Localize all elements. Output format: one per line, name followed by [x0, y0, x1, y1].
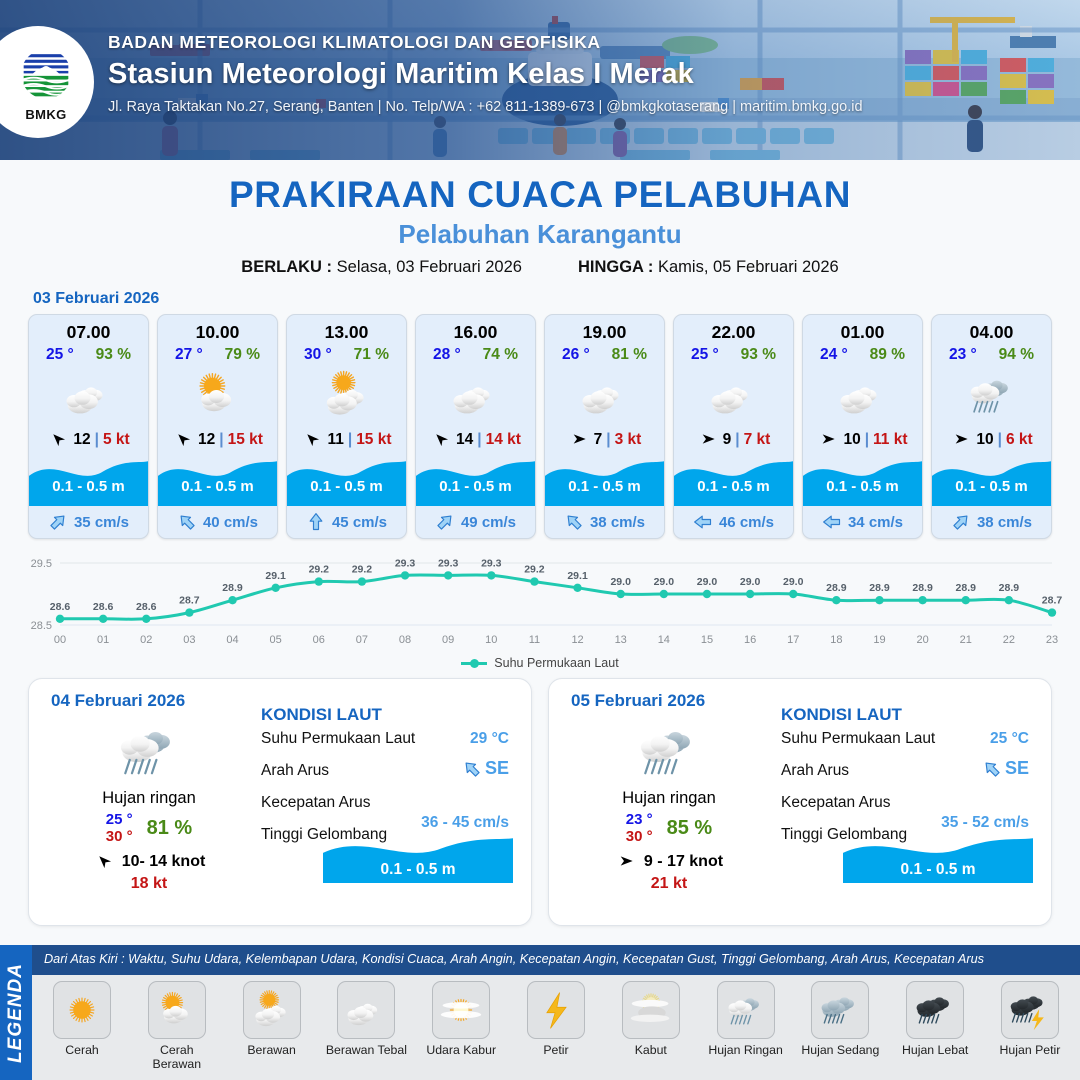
wave-height-value: 0.1 - 0.5 m: [29, 478, 148, 495]
daily-date: 05 Februari 2026: [571, 691, 705, 711]
legend-line-marker-icon: [461, 662, 487, 665]
wind-direction-NW-icon: [301, 431, 323, 450]
wave-height-banner: 0.1 - 0.5 m: [674, 454, 793, 506]
svg-text:28.7: 28.7: [1042, 595, 1063, 607]
legend-item: Petir: [514, 981, 598, 1057]
wind-separator: |: [348, 431, 352, 449]
weather-condition-icon: [158, 364, 277, 426]
wave-height-value: 0.1 - 0.5 m: [803, 478, 922, 495]
current-speed: 40 cm/s: [203, 514, 258, 531]
wind-speed: 14: [456, 431, 473, 449]
daily-gust: 18 kt: [43, 875, 255, 893]
legend-item: Cerah: [40, 981, 124, 1057]
svg-text:06: 06: [313, 634, 325, 646]
svg-text:29.0: 29.0: [610, 576, 631, 588]
legend-icon-box: [622, 981, 680, 1039]
current-speed: 38 cm/s: [590, 514, 645, 531]
bmkg-emblem-icon: [15, 43, 77, 105]
svg-text:28.9: 28.9: [222, 582, 243, 594]
svg-text:28.9: 28.9: [912, 582, 933, 594]
daily-condition: Hujan ringan: [563, 789, 775, 808]
current-direction-label: Arah Arus: [261, 762, 329, 779]
wind-speed: 9: [723, 431, 732, 449]
legend-item-label: Cerah Berawan: [135, 1043, 219, 1071]
wind-separator: |: [735, 431, 739, 449]
weather-condition-icon: [932, 364, 1051, 426]
legend-icon-box: [337, 981, 395, 1039]
legend-icon-box: [527, 981, 585, 1039]
legend-label: Suhu Permukaan Laut: [494, 656, 618, 670]
legend-item-label: Berawan Tebal: [324, 1043, 408, 1057]
current-direction-label: Arah Arus: [781, 762, 849, 779]
forecast-time: 22.00: [674, 315, 793, 343]
legend-icon-box: [811, 981, 869, 1039]
wind-direction-NW-icon: [93, 853, 115, 872]
wave-height-value: 0.1 - 0.5 m: [158, 478, 277, 495]
svg-text:03: 03: [183, 634, 195, 646]
svg-text:23: 23: [1046, 634, 1058, 646]
berawan-icon: [448, 367, 504, 423]
daily-humidity: 81 %: [147, 817, 193, 840]
forecast-card: 13.00 30 ° 71 % 11 | 15 kt: [286, 314, 407, 539]
current-direction-E-icon: [822, 512, 842, 532]
wave-height-banner: 0.1 - 0.5 m: [545, 454, 664, 506]
daily-weather-icon: [43, 715, 255, 787]
current-direction-SE-icon: [982, 759, 1002, 779]
kabut-icon: [628, 987, 674, 1033]
daily-date: 04 Februari 2026: [51, 691, 185, 711]
daily-temp-max: 30 °: [106, 828, 133, 845]
forecast-time: 07.00: [29, 315, 148, 343]
air-temperature: 24 °: [820, 346, 848, 364]
wind-speed: 10: [843, 431, 860, 449]
svg-text:29.1: 29.1: [265, 570, 286, 582]
wind-speed: 12: [198, 431, 215, 449]
wind-separator: |: [998, 431, 1002, 449]
daily-weather-icon: [563, 715, 775, 787]
svg-text:08: 08: [399, 634, 411, 646]
svg-text:16: 16: [744, 634, 756, 646]
forecast-time: 13.00: [287, 315, 406, 343]
wind-speed: 10: [976, 431, 993, 449]
current-speed: 49 cm/s: [461, 514, 516, 531]
current-row: 40 cm/s: [158, 506, 277, 538]
sst-label: Suhu Permukaan Laut: [261, 730, 415, 747]
daily-temp-max: 30 °: [626, 828, 653, 845]
hujan-ringan-icon: [112, 714, 186, 788]
forecast-card-row: 07.00 25 ° 93 % 12 | 5 kt: [0, 314, 1080, 539]
legend-item-label: Kabut: [609, 1043, 693, 1057]
berawan-sun-icon: [249, 987, 295, 1033]
legend-icon-box: [432, 981, 490, 1039]
daily-summary-card: 05 Februari 2026 Hujan ringan 23 ° 30 °: [548, 678, 1052, 926]
weather-condition-icon: [674, 364, 793, 426]
svg-text:18: 18: [830, 634, 842, 646]
svg-text:00: 00: [54, 634, 66, 646]
svg-text:29.0: 29.0: [697, 576, 718, 588]
svg-text:02: 02: [140, 634, 152, 646]
current-speed: 46 cm/s: [719, 514, 774, 531]
forecast-card: 01.00 24 ° 89 % 10 | 11 kt: [802, 314, 923, 539]
current-row: 35 cm/s: [29, 506, 148, 538]
svg-text:29.5: 29.5: [31, 558, 52, 570]
sea-condition-title: KONDISI LAUT: [261, 705, 517, 725]
berawan-icon: [706, 367, 762, 423]
current-direction-SW-icon: [435, 512, 455, 532]
legend-item: Berawan Tebal: [324, 981, 408, 1057]
legend-item: Hujan Lebat: [893, 981, 977, 1057]
forecast-date-label: 03 Februari 2026: [33, 290, 1080, 308]
forecast-time: 16.00: [416, 315, 535, 343]
legend-item-label: Hujan Sedang: [798, 1043, 882, 1057]
sea-condition-title: KONDISI LAUT: [781, 705, 1037, 725]
current-row: 38 cm/s: [932, 506, 1051, 538]
air-temperature: 27 °: [175, 346, 203, 364]
wind-direction-E-icon: [697, 431, 719, 450]
hujan-ringan-icon: [632, 714, 706, 788]
weather-condition-icon: [287, 364, 406, 426]
wind-direction-E-icon: [568, 431, 590, 450]
daily-wave-banner: 0.1 - 0.5 m: [843, 831, 1033, 887]
daily-wind-range: 10- 14 knot: [122, 853, 206, 871]
current-row: 38 cm/s: [545, 506, 664, 538]
hujan-ringan-icon: [964, 367, 1020, 423]
legend-item: Kabut: [609, 981, 693, 1057]
legend-item-label: Cerah: [40, 1043, 124, 1057]
validity-row: BERLAKU : Selasa, 03 Februari 2026 HINGG…: [0, 258, 1080, 277]
forecast-card: 04.00 23 ° 94 % 10 | 6 kt: [931, 314, 1052, 539]
gust-speed: 7 kt: [744, 431, 771, 449]
daily-temp-min: 23 °: [626, 811, 653, 828]
legend-item: Cerah Berawan: [135, 981, 219, 1071]
air-temperature: 26 °: [562, 346, 590, 364]
current-speed-label: Kecepatan Arus: [781, 794, 890, 811]
humidity: 93 %: [741, 346, 776, 364]
legend-side-banner: LEGENDA: [0, 945, 32, 1080]
svg-text:29.2: 29.2: [352, 564, 373, 576]
wave-height-value: 0.1 - 0.5 m: [545, 478, 664, 495]
valid-until-label: HINGGA :: [578, 258, 653, 276]
svg-text:29.1: 29.1: [567, 570, 588, 582]
current-direction-S-icon: [306, 512, 326, 532]
current-direction-value: SE: [1005, 758, 1029, 779]
gust-speed: 5 kt: [103, 431, 130, 449]
forecast-card: 22.00 25 ° 93 % 9 | 7 kt: [673, 314, 794, 539]
svg-text:28.9: 28.9: [826, 582, 847, 594]
humidity: 71 %: [354, 346, 389, 364]
forecast-card: 07.00 25 ° 93 % 12 | 5 kt: [28, 314, 149, 539]
wave-height-banner: 0.1 - 0.5 m: [287, 454, 406, 506]
wind-direction-NW-icon: [172, 431, 194, 450]
svg-text:28.7: 28.7: [179, 595, 200, 607]
wind-separator: |: [477, 431, 481, 449]
gust-speed: 6 kt: [1006, 431, 1033, 449]
gust-speed: 15 kt: [356, 431, 391, 449]
wave-height-value: 0.1 - 0.5 m: [932, 478, 1051, 495]
svg-text:05: 05: [270, 634, 282, 646]
air-temperature: 28 °: [433, 346, 461, 364]
weather-condition-icon: [803, 364, 922, 426]
daily-humidity: 85 %: [667, 817, 713, 840]
legend-note: Dari Atas Kiri : Waktu, Suhu Udara, Kele…: [44, 952, 1074, 966]
legend-item: Hujan Ringan: [704, 981, 788, 1057]
svg-text:29.3: 29.3: [481, 557, 502, 569]
svg-text:28.6: 28.6: [93, 601, 114, 613]
svg-text:28.6: 28.6: [50, 601, 71, 613]
wave-height-banner: 0.1 - 0.5 m: [416, 454, 535, 506]
gust-speed: 3 kt: [615, 431, 642, 449]
svg-text:29.2: 29.2: [524, 564, 545, 576]
svg-text:10: 10: [485, 634, 497, 646]
legend-item-row: Cerah Cerah Berawan: [32, 975, 1080, 1080]
berawan-icon: [343, 987, 389, 1033]
berawan-icon: [577, 367, 633, 423]
current-row: 45 cm/s: [287, 506, 406, 538]
current-speed: 38 cm/s: [977, 514, 1032, 531]
daily-wave-banner: 0.1 - 0.5 m: [323, 831, 513, 887]
sst-value: 29 °C: [470, 730, 509, 748]
wind-direction-NW-icon: [47, 431, 69, 450]
weather-condition-icon: [29, 364, 148, 426]
svg-text:01: 01: [97, 634, 109, 646]
wind-direction-E-icon: [817, 431, 839, 450]
daily-wind-range: 9 - 17 knot: [644, 853, 723, 871]
weather-condition-icon: [416, 364, 535, 426]
current-row: 34 cm/s: [803, 506, 922, 538]
svg-text:14: 14: [658, 634, 670, 646]
current-direction-SE-icon: [177, 512, 197, 532]
forecast-time: 19.00: [545, 315, 664, 343]
svg-text:28.5: 28.5: [31, 620, 52, 632]
legend-icon-box: [717, 981, 775, 1039]
wind-direction-E-icon: [615, 853, 637, 872]
svg-text:29.0: 29.0: [654, 576, 675, 588]
berawan-sun-icon: [319, 367, 375, 423]
valid-from-value: Selasa, 03 Februari 2026: [337, 258, 522, 276]
daily-summary-card: 04 Februari 2026 Hujan ringan 25 ° 30 °: [28, 678, 532, 926]
svg-text:15: 15: [701, 634, 713, 646]
cerah-berawan-icon: [190, 367, 246, 423]
legend-icon-box: [1001, 981, 1059, 1039]
hujan-petir-icon: [1007, 987, 1053, 1033]
forecast-time: 10.00: [158, 315, 277, 343]
udara-kabur-icon: [438, 987, 484, 1033]
valid-from: BERLAKU : Selasa, 03 Februari 2026: [241, 258, 522, 277]
current-direction-SE-icon: [564, 512, 584, 532]
berawan-icon: [61, 367, 117, 423]
svg-text:29.3: 29.3: [438, 557, 459, 569]
legend-icon-box: [906, 981, 964, 1039]
title-block: PRAKIRAAN CUACA PELABUHAN Pelabuhan Kara…: [0, 160, 1080, 277]
valid-until-value: Kamis, 05 Februari 2026: [658, 258, 839, 276]
air-temperature: 30 °: [304, 346, 332, 364]
wave-height-banner: 0.1 - 0.5 m: [932, 454, 1051, 506]
current-direction-SE-icon: [462, 759, 482, 779]
humidity: 89 %: [870, 346, 905, 364]
gust-speed: 15 kt: [228, 431, 263, 449]
current-direction-row: Arah Arus SE: [781, 762, 1037, 794]
current-direction-SW-icon: [48, 512, 68, 532]
legend-item: Hujan Sedang: [798, 981, 882, 1057]
page-subtitle: Pelabuhan Karangantu: [0, 219, 1080, 250]
legend-item-label: Udara Kabur: [419, 1043, 503, 1057]
legend-icon-box: [243, 981, 301, 1039]
page-header: BMKG BADAN METEOROLOGI KLIMATOLOGI DAN G…: [0, 0, 1080, 160]
svg-text:19: 19: [873, 634, 885, 646]
legend-item-label: Hujan Ringan: [704, 1043, 788, 1057]
wave-height-value: 0.1 - 0.5 m: [287, 478, 406, 495]
daily-summary-row: 04 Februari 2026 Hujan ringan 25 ° 30 °: [0, 670, 1080, 926]
svg-text:28.6: 28.6: [136, 601, 157, 613]
legend-item: Hujan Petir: [988, 981, 1072, 1057]
wind-direction-NW-icon: [430, 431, 452, 450]
daily-condition: Hujan ringan: [43, 789, 255, 808]
cerah-icon: [59, 987, 105, 1033]
legend-icon-box: [148, 981, 206, 1039]
contact-info: Jl. Raya Taktakan No.27, Serang, Banten …: [108, 99, 863, 115]
svg-text:12: 12: [571, 634, 583, 646]
svg-text:29.3: 29.3: [395, 557, 416, 569]
humidity: 74 %: [483, 346, 518, 364]
sst-chart: 29.528.528.60028.60128.60228.70328.90429…: [10, 549, 1070, 654]
svg-text:04: 04: [226, 634, 238, 646]
legend-item-label: Petir: [514, 1043, 598, 1057]
wind-speed: 7: [594, 431, 603, 449]
svg-text:20: 20: [916, 634, 928, 646]
current-direction-row: Arah Arus SE: [261, 762, 517, 794]
svg-text:07: 07: [356, 634, 368, 646]
bmkg-logo-text: BMKG: [15, 107, 77, 122]
current-speed: 35 cm/s: [74, 514, 129, 531]
current-row: 49 cm/s: [416, 506, 535, 538]
valid-until: HINGGA : Kamis, 05 Februari 2026: [578, 258, 839, 277]
current-speed-row: Kecepatan Arus 35 - 52 cm/s: [781, 794, 1037, 826]
hujan-ringan-icon: [723, 987, 769, 1033]
legend-side-label: LEGENDA: [5, 963, 27, 1063]
legend-section: LEGENDA Dari Atas Kiri : Waktu, Suhu Uda…: [0, 945, 1080, 1080]
gust-speed: 11 kt: [873, 431, 907, 449]
petir-icon: [533, 987, 579, 1033]
hujan-sedang-icon: [817, 987, 863, 1033]
air-temperature: 25 °: [46, 346, 74, 364]
current-direction-E-icon: [693, 512, 713, 532]
forecast-card: 19.00 26 ° 81 % 7 | 3 kt: [544, 314, 665, 539]
wind-speed: 12: [73, 431, 90, 449]
humidity: 79 %: [225, 346, 260, 364]
wave-height-banner: 0.1 - 0.5 m: [29, 454, 148, 506]
forecast-card: 16.00 28 ° 74 % 14 | 14 kt: [415, 314, 536, 539]
humidity: 81 %: [612, 346, 647, 364]
wind-direction-E-icon: [950, 431, 972, 450]
svg-text:17: 17: [787, 634, 799, 646]
gust-speed: 14 kt: [486, 431, 521, 449]
legend-icon-box: [53, 981, 111, 1039]
legend-item-label: Hujan Lebat: [893, 1043, 977, 1057]
wind-speed: 11: [327, 431, 343, 449]
wind-separator: |: [865, 431, 869, 449]
daily-temp-min: 25 °: [106, 811, 133, 828]
valid-from-label: BERLAKU :: [241, 258, 332, 276]
current-direction-SW-icon: [951, 512, 971, 532]
svg-text:22: 22: [1003, 634, 1015, 646]
legend-item-label: Hujan Petir: [988, 1043, 1072, 1057]
humidity: 94 %: [999, 346, 1034, 364]
svg-text:21: 21: [960, 634, 972, 646]
daily-gust: 21 kt: [563, 875, 775, 893]
current-speed-label: Kecepatan Arus: [261, 794, 370, 811]
weather-condition-icon: [545, 364, 664, 426]
cerah-berawan-icon: [154, 987, 200, 1033]
current-speed: 34 cm/s: [848, 514, 903, 531]
current-row: 46 cm/s: [674, 506, 793, 538]
wave-height-value: 0.1 - 0.5 m: [416, 478, 535, 495]
agency-name: BADAN METEOROLOGI KLIMATOLOGI DAN GEOFIS…: [108, 32, 863, 53]
page-title: PRAKIRAAN CUACA PELABUHAN: [0, 174, 1080, 216]
svg-text:11: 11: [529, 634, 540, 646]
chart-legend: Suhu Permukaan Laut: [0, 656, 1080, 670]
svg-text:28.9: 28.9: [869, 582, 890, 594]
svg-text:28.9: 28.9: [956, 582, 977, 594]
svg-text:29.0: 29.0: [740, 576, 761, 588]
legend-item-label: Berawan: [230, 1043, 314, 1057]
forecast-card: 10.00 27 ° 79 % 12 | 15 kt 0.1 - 0.5 m: [157, 314, 278, 539]
hujan-lebat-icon: [912, 987, 958, 1033]
daily-wave-value: 0.1 - 0.5 m: [323, 861, 513, 879]
current-speed-row: Kecepatan Arus 36 - 45 cm/s: [261, 794, 517, 826]
station-name: Stasiun Meteorologi Maritim Kelas I Mera…: [108, 58, 863, 91]
wave-height-banner: 0.1 - 0.5 m: [803, 454, 922, 506]
svg-text:29.2: 29.2: [309, 564, 330, 576]
svg-text:29.0: 29.0: [783, 576, 804, 588]
berawan-icon: [835, 367, 891, 423]
forecast-time: 04.00: [932, 315, 1051, 343]
sst-label: Suhu Permukaan Laut: [781, 730, 935, 747]
air-temperature: 23 °: [949, 346, 977, 364]
current-direction-value: SE: [485, 758, 509, 779]
svg-text:13: 13: [615, 634, 627, 646]
wind-separator: |: [219, 431, 223, 449]
daily-wave-value: 0.1 - 0.5 m: [843, 861, 1033, 879]
svg-text:09: 09: [442, 634, 454, 646]
sst-value: 25 °C: [990, 730, 1029, 748]
forecast-time: 01.00: [803, 315, 922, 343]
wind-separator: |: [95, 431, 99, 449]
humidity: 93 %: [96, 346, 131, 364]
wave-height-banner: 0.1 - 0.5 m: [158, 454, 277, 506]
legend-item: Berawan: [230, 981, 314, 1057]
svg-text:28.9: 28.9: [999, 582, 1020, 594]
current-speed: 45 cm/s: [332, 514, 387, 531]
legend-item: Udara Kabur: [419, 981, 503, 1057]
wind-separator: |: [606, 431, 610, 449]
air-temperature: 25 °: [691, 346, 719, 364]
wave-height-value: 0.1 - 0.5 m: [674, 478, 793, 495]
